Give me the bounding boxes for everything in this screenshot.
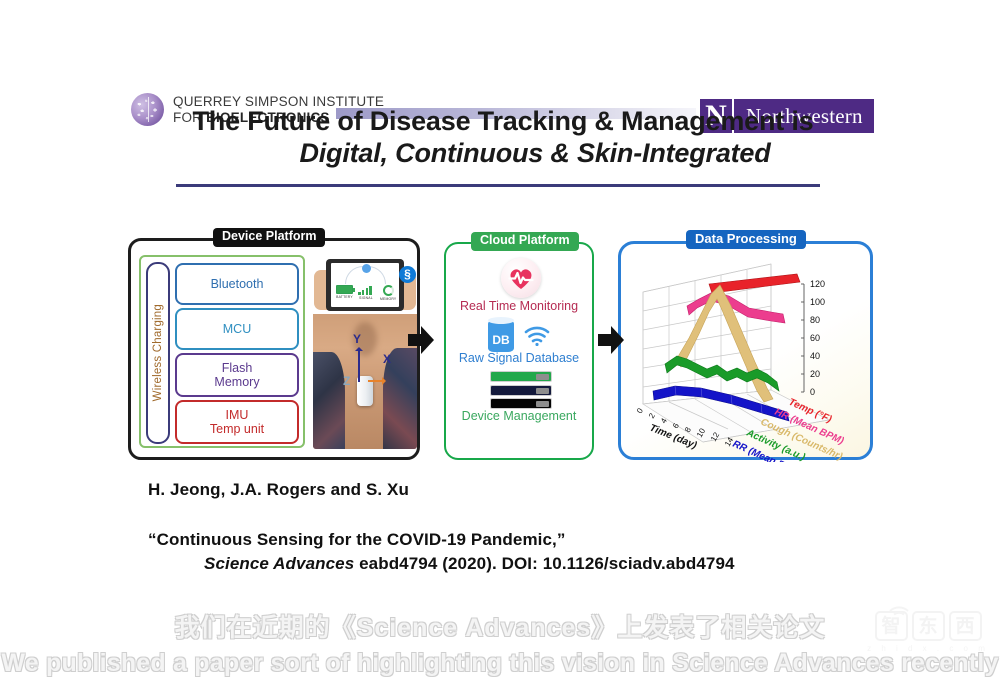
subtitle-block: 我们在近期的《Science Advances》上发表了相关论文 We publ… — [0, 608, 1000, 678]
citation-journal-line: Science Advances eabd4794 (2020). DOI: 1… — [148, 554, 908, 574]
flash-line-1: Flash — [222, 361, 253, 375]
component-imu-temp-unit: IMUTemp unit — [175, 400, 299, 444]
device-management-label: Device Management — [446, 410, 592, 424]
component-bluetooth-label: Bluetooth — [211, 277, 264, 291]
battery-icon — [336, 285, 353, 294]
wireless-charging-label: Wireless Charging — [152, 304, 164, 401]
svg-text:40: 40 — [810, 351, 820, 361]
axis-label-y: Y — [353, 332, 361, 346]
imu-line-1: IMU — [226, 408, 249, 422]
database-icon: DB — [488, 320, 514, 352]
component-flash-memory: FlashMemory — [175, 353, 299, 397]
svg-text:0: 0 — [810, 387, 815, 397]
z-axis — [801, 284, 804, 392]
svg-text:80: 80 — [810, 315, 820, 325]
citation-paper-title: “Continuous Sensing for the COVID-19 Pan… — [148, 530, 908, 550]
data-processing-title: Data Processing — [686, 230, 806, 249]
device-components-group: Wireless Charging Bluetooth MCU FlashMem… — [139, 255, 305, 448]
slide-title: The Future of Disease Tracking & Managem… — [0, 106, 1000, 170]
memory-gauge-icon — [383, 285, 394, 296]
servers-icon — [490, 371, 552, 412]
server-unit-2 — [490, 385, 552, 396]
server-unit-3 — [490, 398, 552, 409]
tablet-screen: BATTERY SIGNAL MEMORY — [331, 263, 399, 307]
server-unit-1 — [490, 371, 552, 382]
cloud-platform-panel: Real Time Monitoring DB Raw Signal Datab… — [444, 242, 594, 460]
component-mcu: MCU — [175, 308, 299, 350]
heart-pulse-icon — [501, 258, 541, 298]
component-mcu-label: MCU — [223, 322, 251, 336]
svg-text:2: 2 — [647, 411, 657, 420]
axis-label-z: Z — [343, 374, 350, 388]
subtitle-chinese: 我们在近期的《Science Advances》上发表了相关论文 — [0, 608, 1000, 644]
stat-signal-label: SIGNAL — [358, 296, 374, 300]
wireless-charging-block: Wireless Charging — [146, 262, 170, 444]
svg-text:120: 120 — [810, 279, 825, 289]
real-time-monitoring-label: Real Time Monitoring — [446, 300, 592, 314]
title-underline — [176, 184, 820, 187]
bluetooth-icon: § — [399, 266, 416, 283]
stat-memory: MEMORY — [380, 285, 396, 301]
plot-grid — [643, 264, 829, 442]
axis-label-x: X — [383, 352, 391, 366]
signal-bars-icon — [358, 285, 374, 295]
watermark-char-2: 东 — [912, 611, 945, 641]
citation-block: H. Jeong, J.A. Rogers and S. Xu “Continu… — [148, 480, 908, 574]
svg-text:60: 60 — [810, 333, 820, 343]
wifi-watermark-icon — [888, 604, 910, 616]
database-icon-label: DB — [492, 333, 509, 347]
bluetooth-dot-icon — [362, 264, 371, 273]
neck-wearable-photo: Y X Z — [313, 314, 417, 449]
title-line-2: Digital, Continuous & Skin-Integrated — [0, 137, 1000, 170]
component-flash-memory-label: FlashMemory — [214, 361, 259, 389]
title-line-1: The Future of Disease Tracking & Managem… — [0, 106, 1000, 137]
stat-battery: BATTERY — [336, 285, 353, 299]
watermark-characters: 智 东 西 — [862, 611, 994, 641]
citation-journal-name: Science Advances — [204, 554, 354, 573]
device-platform-panel: Wireless Charging Bluetooth MCU FlashMem… — [128, 238, 420, 460]
wifi-icon — [524, 324, 550, 346]
arrow-right-icon — [408, 326, 434, 354]
device-platform-title: Device Platform — [213, 228, 325, 247]
heart-pulse-svg — [508, 266, 534, 290]
watermark-domain: z h i d x . c o m — [862, 644, 994, 653]
cloud-platform-title: Cloud Platform — [471, 232, 579, 251]
component-imu-label: IMUTemp unit — [210, 408, 264, 436]
data-processing-panel: 120 100 80 60 40 20 0 0 2 4 6 8 10 12 14… — [618, 241, 873, 460]
component-bluetooth: Bluetooth — [175, 263, 299, 305]
subtitle-english: We published a paper sort of highlightin… — [0, 649, 1000, 678]
svg-text:100: 100 — [810, 297, 825, 307]
z-axis-ticks: 120 100 80 60 40 20 0 — [810, 279, 825, 397]
citation-journal-rest: eabd4794 (2020). DOI: 10.1126/sciadv.abd… — [354, 554, 734, 573]
device-photo-area: BATTERY SIGNAL MEMORY § — [313, 254, 417, 449]
axis-arrow-y — [358, 348, 360, 382]
watermark-char-3: 西 — [949, 611, 982, 641]
slide-header: QUERREY SIMPSON INSTITUTE FOR BIOELECTRO… — [0, 44, 1000, 102]
imu-line-2: Temp unit — [210, 422, 264, 436]
tablet-device: BATTERY SIGNAL MEMORY — [326, 259, 404, 311]
arrow-right-icon — [598, 326, 624, 354]
tablet-photo: BATTERY SIGNAL MEMORY § — [313, 254, 417, 314]
citation-authors: H. Jeong, J.A. Rogers and S. Xu — [148, 480, 908, 500]
axis-arrow-x — [368, 380, 385, 382]
flash-line-2: Memory — [214, 375, 259, 389]
3d-ribbon-plot: 120 100 80 60 40 20 0 0 2 4 6 8 10 12 14… — [621, 252, 876, 462]
svg-text:20: 20 — [810, 369, 820, 379]
raw-signal-database-label: Raw Signal Database — [446, 352, 592, 366]
svg-text:0: 0 — [635, 406, 645, 415]
zhidx-watermark: 智 东 西 z h i d x . c o m — [862, 611, 994, 673]
stat-signal: SIGNAL — [358, 285, 374, 300]
stat-memory-label: MEMORY — [380, 297, 396, 301]
stat-battery-label: BATTERY — [336, 295, 353, 299]
system-diagram: Wireless Charging Bluetooth MCU FlashMem… — [128, 228, 873, 460]
